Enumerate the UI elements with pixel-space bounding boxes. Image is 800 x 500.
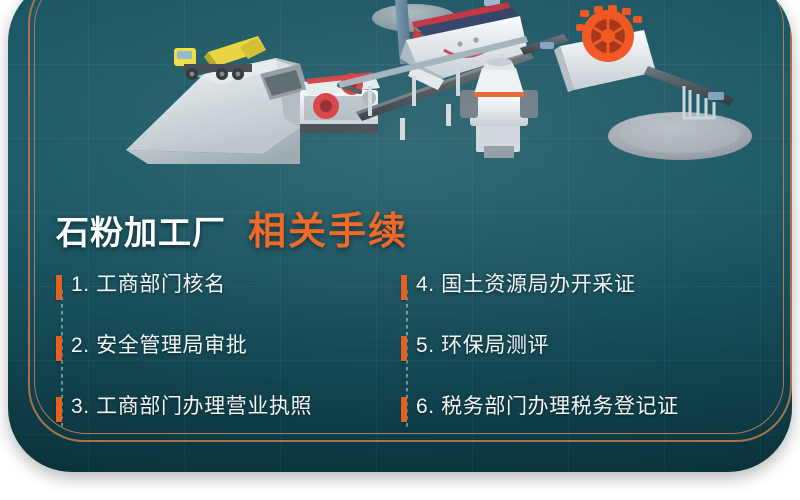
list-item[interactable]: 3. 工商部门办理营业执照 — [56, 394, 401, 455]
title-primary: 石粉加工厂 — [56, 206, 226, 254]
list-item[interactable]: 1. 工商部门核名 — [56, 272, 401, 333]
list-item[interactable]: 4. 国土资源局办开采证 — [401, 272, 746, 333]
list-item[interactable]: 2. 安全管理局审批 — [56, 333, 401, 394]
marker-bar-icon — [56, 397, 62, 422]
procedure-column-right: 4. 国土资源局办开采证 5. 环保局测评 6. 税务部门办理税务登记证 — [401, 272, 746, 455]
list-item-label: 4. 国土资源局办开采证 — [416, 272, 636, 298]
list-item-label: 2. 安全管理局审批 — [71, 333, 247, 359]
marker-bar-icon — [56, 336, 62, 361]
list-item-label: 5. 环保局测评 — [416, 333, 549, 359]
marker-bar-icon — [401, 275, 407, 300]
page-title: 石粉加工厂 相关手续 — [56, 200, 408, 255]
title-highlight: 相关手续 — [248, 200, 408, 255]
list-item[interactable]: 5. 环保局测评 — [401, 333, 746, 394]
list-item-label: 3. 工商部门办理营业执照 — [71, 394, 312, 420]
procedure-column-left: 1. 工商部门核名 2. 安全管理局审批 3. 工商部门办理营业执照 — [56, 272, 401, 455]
marker-bar-icon — [401, 397, 407, 422]
list-item-label: 6. 税务部门办理税务登记证 — [416, 394, 679, 420]
marker-bar-icon — [56, 275, 62, 300]
list-item[interactable]: 6. 税务部门办理税务登记证 — [401, 394, 746, 455]
poster-canvas: 石粉加工厂 相关手续 1. 工商部门核名 2. 安全管理局审批 3. 工商部门办… — [0, 0, 800, 500]
procedure-list: 1. 工商部门核名 2. 安全管理局审批 3. 工商部门办理营业执照 4. 国土… — [56, 272, 746, 455]
marker-bar-icon — [401, 336, 407, 361]
list-item-label: 1. 工商部门核名 — [71, 272, 226, 298]
